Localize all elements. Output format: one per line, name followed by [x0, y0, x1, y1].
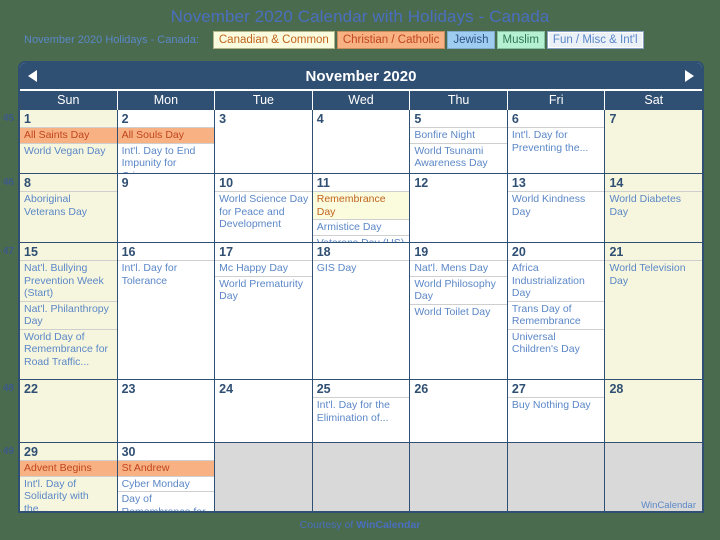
event-item[interactable]: World Prematurity Day	[215, 276, 312, 304]
day-header-thu: Thu	[410, 91, 508, 110]
event-item[interactable]: Buy Nothing Day	[508, 397, 605, 413]
day-number: 8	[20, 174, 117, 191]
day-number: 14	[605, 174, 702, 191]
day-header-fri: Fri	[508, 91, 606, 110]
legend-chip-mus[interactable]: Muslim	[497, 31, 545, 49]
day-cell[interactable]: 29Advent BeginsInt'l. Day of Solidarity …	[20, 443, 118, 513]
event-item[interactable]: Veterans Day (US)	[313, 235, 410, 243]
day-cell[interactable]: 26	[410, 380, 508, 442]
day-number: 30	[118, 443, 215, 460]
day-cell[interactable]: 14World Diabetes Day	[605, 174, 702, 242]
event-item[interactable]: St Andrew	[118, 460, 215, 476]
event-item[interactable]: Mc Happy Day	[215, 260, 312, 276]
day-number: 1	[20, 110, 117, 127]
watermark: WinCalendar	[641, 500, 696, 511]
day-number: 10	[215, 174, 312, 191]
day-header-sun: Sun	[20, 91, 118, 110]
day-number: 27	[508, 380, 605, 397]
day-cell[interactable]: 28	[605, 380, 702, 442]
event-item[interactable]: Int'l. Day for Tolerance	[118, 260, 215, 288]
event-item[interactable]: World Toilet Day	[410, 304, 507, 320]
event-item[interactable]: World Kindness Day	[508, 191, 605, 219]
day-cell[interactable]: 3	[215, 110, 313, 173]
day-cell[interactable]: 30St AndrewCyber MondayDay of Remembranc…	[118, 443, 216, 513]
event-item[interactable]: Nat'l. Mens Day	[410, 260, 507, 276]
calendar-frame: November 2020 SunMonTueWedThuFriSat 1All…	[18, 61, 704, 513]
event-item[interactable]: Advent Begins	[20, 460, 117, 476]
day-cell[interactable]: 21World Television Day	[605, 243, 702, 379]
calendar-weeks: 1All Saints DayWorld Vegan Day2All Souls…	[20, 110, 702, 513]
legend-caption: November 2020 Holidays - Canada:	[24, 34, 199, 46]
day-cell[interactable]: 17Mc Happy DayWorld Prematurity Day	[215, 243, 313, 379]
day-number: 12	[410, 174, 507, 191]
day-number: 17	[215, 243, 312, 260]
day-cell[interactable]: 19Nat'l. Mens DayWorld Philosophy DayWor…	[410, 243, 508, 379]
day-number: 13	[508, 174, 605, 191]
event-item[interactable]: World Philosophy Day	[410, 276, 507, 304]
legend-chip-jew[interactable]: Jewish	[447, 31, 494, 49]
day-cell[interactable]: 7	[605, 110, 702, 173]
event-item[interactable]: Africa Industrialization Day	[508, 260, 605, 301]
day-number: 18	[313, 243, 410, 260]
prev-arrow-icon[interactable]	[26, 68, 42, 84]
day-number: 5	[410, 110, 507, 127]
next-arrow-icon[interactable]	[680, 68, 696, 84]
week-number: 45	[0, 113, 16, 124]
day-number: 25	[313, 380, 410, 397]
day-cell[interactable]: 20Africa Industrialization DayTrans Day …	[508, 243, 606, 379]
event-item[interactable]: Cyber Monday	[118, 476, 215, 492]
event-item[interactable]: World Television Day	[605, 260, 702, 288]
event-item[interactable]: Int'l. Day to End Impunity for Crimes...	[118, 143, 215, 174]
day-cell[interactable]: 1All Saints DayWorld Vegan Day	[20, 110, 118, 173]
day-number: 11	[313, 174, 410, 191]
event-item[interactable]: Int'l. Day for the Elimination of...	[313, 397, 410, 425]
day-number: 21	[605, 243, 702, 260]
day-cell[interactable]: 4	[313, 110, 411, 173]
day-of-week-header: SunMonTueWedThuFriSat	[20, 91, 702, 110]
week-number: 49	[0, 446, 16, 457]
day-cell[interactable]: 5Bonfire NightWorld Tsunami Awareness Da…	[410, 110, 508, 173]
day-number: 15	[20, 243, 117, 260]
day-number: 20	[508, 243, 605, 260]
day-header-mon: Mon	[118, 91, 216, 110]
day-cell[interactable]: 10World Science Day for Peace and Develo…	[215, 174, 313, 242]
day-cell[interactable]: 6Int'l. Day for Preventing the...	[508, 110, 606, 173]
footer-prefix: Courtesy of	[300, 519, 357, 531]
week-number: 46	[0, 177, 16, 188]
day-number: 4	[313, 110, 410, 127]
event-item[interactable]: Trans Day of Remembrance	[508, 301, 605, 329]
event-item[interactable]: Bonfire Night	[410, 127, 507, 143]
day-number: 16	[118, 243, 215, 260]
day-cell[interactable]: 12	[410, 174, 508, 242]
day-cell[interactable]: 13World Kindness Day	[508, 174, 606, 242]
event-item[interactable]: Day of Remembrance for all Victims of...	[118, 491, 215, 513]
week-row: 1All Saints DayWorld Vegan Day2All Souls…	[20, 110, 702, 174]
event-item[interactable]: Armistice Day	[313, 219, 410, 235]
day-cell[interactable]: 8Aboriginal Veterans Day	[20, 174, 118, 242]
day-header-wed: Wed	[313, 91, 411, 110]
week-row: 29Advent BeginsInt'l. Day of Solidarity …	[20, 443, 702, 513]
legend-chip-chr[interactable]: Christian / Catholic	[337, 31, 446, 49]
day-number: 6	[508, 110, 605, 127]
event-item[interactable]: World Diabetes Day	[605, 191, 702, 219]
day-number: 19	[410, 243, 507, 260]
day-cell[interactable]: 15Nat'l. Bullying Prevention Week (Start…	[20, 243, 118, 379]
day-number: 22	[20, 380, 117, 397]
event-item[interactable]: Int'l. Day for Preventing the...	[508, 127, 605, 155]
week-number: 48	[0, 383, 16, 394]
legend-bar: November 2020 Holidays - Canada: Canadia…	[0, 29, 720, 51]
day-cell[interactable]: 27Buy Nothing Day	[508, 380, 606, 442]
event-item[interactable]: Remembrance Day	[313, 191, 410, 219]
day-cell[interactable]: 23	[118, 380, 216, 442]
day-cell[interactable]: 22	[20, 380, 118, 442]
day-cell[interactable]: 24	[215, 380, 313, 442]
month-navigation-bar: November 2020	[20, 63, 702, 91]
day-number: 23	[118, 380, 215, 397]
week-number: 47	[0, 246, 16, 257]
day-cell[interactable]: 16Int'l. Day for Tolerance	[118, 243, 216, 379]
event-item[interactable]: World Day of Remembrance for Road Traffi…	[20, 329, 117, 370]
event-item[interactable]: World Science Day for Peace and Developm…	[215, 191, 312, 232]
event-item[interactable]: Aboriginal Veterans Day	[20, 191, 117, 219]
day-number: 29	[20, 443, 117, 460]
calendar-container: November 2020 SunMonTueWedThuFriSat 1All…	[18, 61, 704, 513]
event-item[interactable]: Int'l. Day of Solidarity with the...	[20, 476, 117, 514]
day-cell-empty	[410, 443, 508, 513]
event-item[interactable]: Nat'l. Bullying Prevention Week (Start)	[20, 260, 117, 301]
event-item[interactable]: Nat'l. Philanthropy Day	[20, 301, 117, 329]
day-number: 7	[605, 110, 702, 127]
day-cell[interactable]: 11Remembrance DayArmistice DayVeterans D…	[313, 174, 411, 242]
day-cell[interactable]: 18GIS Day	[313, 243, 411, 379]
day-cell[interactable]: 9	[118, 174, 216, 242]
footer-brand: WinCalendar	[356, 519, 420, 531]
calendar-page: November 2020 Calendar with Holidays - C…	[0, 0, 720, 540]
day-cell-empty	[215, 443, 313, 513]
week-row: 15Nat'l. Bullying Prevention Week (Start…	[20, 243, 702, 380]
day-number: 24	[215, 380, 312, 397]
legend-chip-list: Canadian & CommonChristian / CatholicJew…	[213, 31, 646, 49]
day-number: 2	[118, 110, 215, 127]
page-title: November 2020 Calendar with Holidays - C…	[0, 0, 720, 28]
day-cell-empty	[508, 443, 606, 513]
footer-credit: Courtesy of WinCalendar	[0, 519, 720, 531]
day-number: 9	[118, 174, 215, 191]
event-item[interactable]: All Saints Day	[20, 127, 117, 143]
day-cell-empty	[313, 443, 411, 513]
month-title: November 2020	[42, 68, 680, 85]
day-cell[interactable]: 2All Souls DayInt'l. Day to End Impunity…	[118, 110, 216, 173]
event-item[interactable]: Universal Children's Day	[508, 329, 605, 357]
week-row: 22232425Int'l. Day for the Elimination o…	[20, 380, 702, 443]
day-number: 28	[605, 380, 702, 397]
day-number: 3	[215, 110, 312, 127]
day-cell[interactable]: 25Int'l. Day for the Elimination of...	[313, 380, 411, 442]
day-number: 26	[410, 380, 507, 397]
event-item[interactable]: World Vegan Day	[20, 143, 117, 159]
legend-chip-fun[interactable]: Fun / Misc & Int'l	[547, 31, 644, 49]
day-header-tue: Tue	[215, 91, 313, 110]
event-item[interactable]: All Souls Day	[118, 127, 215, 143]
legend-chip-cc[interactable]: Canadian & Common	[213, 31, 335, 49]
event-item[interactable]: GIS Day	[313, 260, 410, 276]
event-item[interactable]: World Tsunami Awareness Day	[410, 143, 507, 171]
week-row: 8Aboriginal Veterans Day910World Science…	[20, 174, 702, 243]
day-header-sat: Sat	[605, 91, 702, 110]
